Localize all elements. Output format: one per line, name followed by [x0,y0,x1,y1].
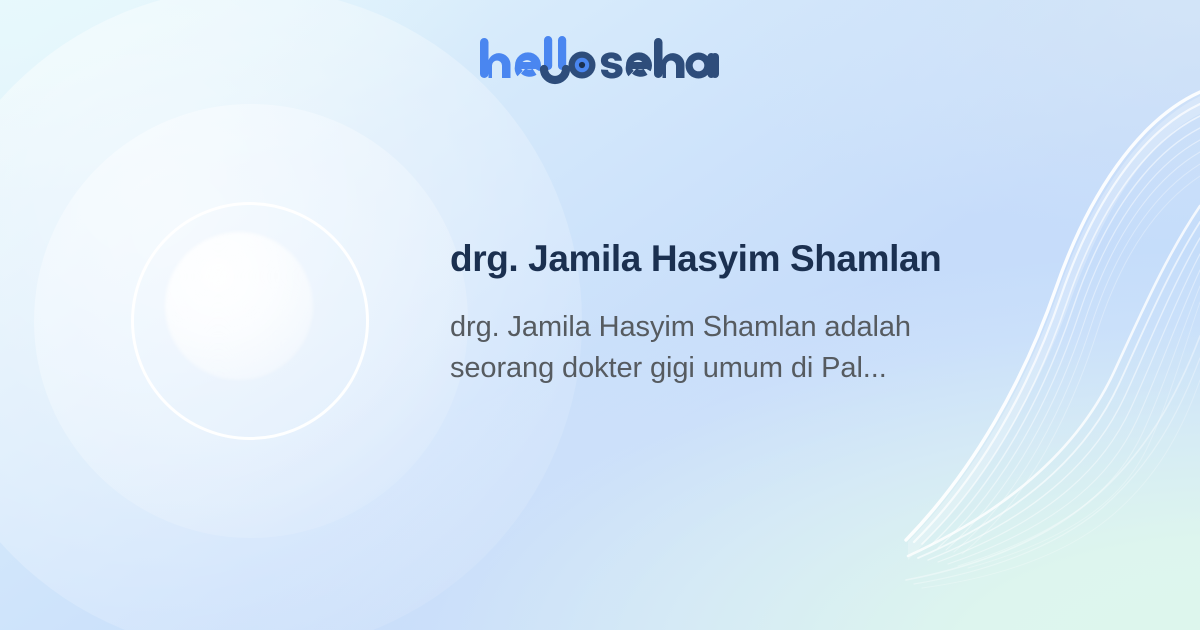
logo-letter-a [686,53,716,79]
logo-letter-s [601,52,623,78]
logo-letter-t [711,53,719,78]
social-share-card: drg. Jamila Hasyim Shamlan drg. Jamila H… [0,0,1200,630]
decorative-inner-blob [165,232,313,380]
logo-letter-e [515,52,541,76]
hellosehat-logo [0,36,1200,92]
page-description: drg. Jamila Hasyim Shamlan adalah seoran… [450,307,980,389]
page-title: drg. Jamila Hasyim Shamlan [450,236,1010,281]
logo-letter-h [480,38,511,78]
logo-letter-h2 [654,38,685,78]
card-content: drg. Jamila Hasyim Shamlan drg. Jamila H… [450,236,1010,389]
stethoscope-o-icon [544,36,596,80]
logo-letter-e2 [626,52,652,76]
